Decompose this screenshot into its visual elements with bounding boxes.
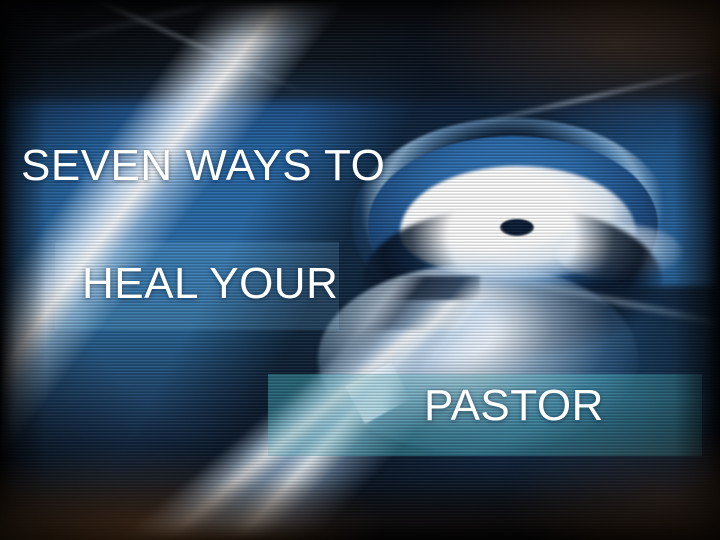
title-line-2: HEAL YOUR (82, 259, 338, 309)
title-line-3: PASTOR (424, 381, 604, 431)
title-slide: SEVEN WAYS TO HEAL YOUR PASTOR (0, 0, 720, 540)
title-line-1: SEVEN WAYS TO (21, 141, 385, 191)
